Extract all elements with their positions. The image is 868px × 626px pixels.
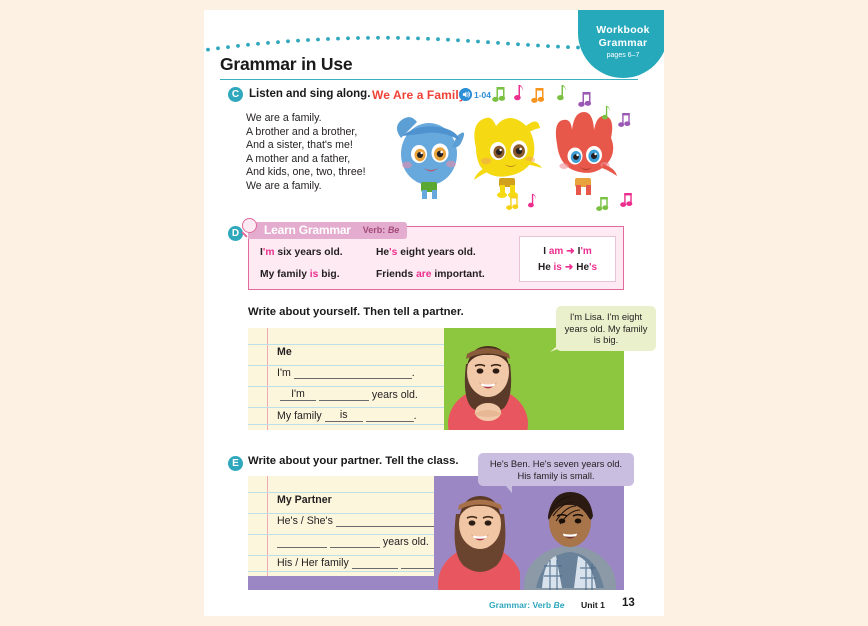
music-note-green-2 bbox=[555, 84, 566, 102]
magnifying-glass-icon bbox=[242, 218, 257, 233]
worksheet-e-line-1[interactable]: He's / She's . bbox=[277, 515, 441, 527]
music-note-pink-2 bbox=[526, 193, 536, 209]
exercise-letter-d: D bbox=[228, 226, 243, 241]
footer-unit: Unit 1 bbox=[581, 600, 605, 610]
learn-grammar-title: Learn Grammar bbox=[248, 222, 359, 239]
lyric-line: A brother and a brother, bbox=[246, 126, 366, 140]
music-note-green-3 bbox=[600, 105, 610, 121]
music-note-yellow-1 bbox=[506, 195, 521, 212]
worksheet-line-2[interactable]: I'm years old. bbox=[280, 388, 418, 401]
music-note-green-4 bbox=[596, 196, 611, 213]
badge-line-1: Workbook bbox=[596, 24, 650, 37]
music-note-pink-1 bbox=[512, 84, 523, 102]
grammar-example-2: My family is big. bbox=[260, 269, 340, 280]
textbook-page: Workbook Grammar pages 6–7 Grammar in Us… bbox=[204, 10, 664, 616]
blue-monster bbox=[390, 108, 468, 200]
footer-grammar-label: Grammar: Verb Be bbox=[489, 600, 564, 610]
worksheet-line-1[interactable]: I'm . bbox=[277, 367, 415, 379]
photo-girl-lisa bbox=[444, 328, 532, 430]
section-d-instruction: Write about yourself. Then tell a partne… bbox=[248, 306, 464, 318]
badge-line-2: Grammar bbox=[599, 37, 648, 50]
grammar-example-1: I'm six years old. bbox=[260, 247, 343, 258]
exercise-letter-c: C bbox=[228, 87, 243, 102]
speech-bubble-tail-lisa bbox=[548, 340, 564, 356]
grammar-example-4: Friends are important. bbox=[376, 269, 485, 280]
learn-grammar-verb-label: Verb: Be bbox=[359, 222, 408, 239]
paper-margin-line bbox=[267, 476, 268, 576]
music-note-orange-1 bbox=[531, 87, 547, 105]
section-e-activity-panel: My Partner He's / She's . years old. His… bbox=[248, 476, 624, 590]
worksheet-title-partner: My Partner bbox=[277, 494, 332, 506]
footer-page-number: 13 bbox=[622, 597, 635, 609]
worksheet-line-3[interactable]: My family is . bbox=[277, 409, 417, 422]
song-title: We Are a Family bbox=[372, 88, 466, 102]
section-c-instruction: Listen and sing along. bbox=[249, 88, 370, 100]
song-lyrics: We are a family. A brother and a brother… bbox=[246, 112, 366, 194]
worksheet-paper-me[interactable]: Me I'm . I'm years old. My family is . bbox=[248, 328, 456, 430]
yellow-monster bbox=[468, 106, 546, 200]
contraction-box: I am➜I'm He is➜He's bbox=[519, 236, 616, 282]
music-note-purple-2 bbox=[618, 112, 633, 129]
worksheet-title-me: Me bbox=[277, 346, 292, 358]
section-e-instruction: Write about your partner. Tell the class… bbox=[248, 455, 459, 467]
lyric-line: And a sister, that's me! bbox=[246, 139, 366, 153]
worksheet-paper-partner[interactable]: My Partner He's / She's . years old. His… bbox=[248, 476, 456, 576]
speaker-icon[interactable] bbox=[459, 88, 472, 101]
contraction-row-2: He is➜He's bbox=[538, 262, 597, 273]
worksheet-e-line-2[interactable]: years old. bbox=[277, 536, 429, 548]
grammar-example-3: He's eight years old. bbox=[376, 247, 476, 258]
photo-boy-ben bbox=[520, 476, 624, 590]
lyric-line: We are a family. bbox=[246, 112, 366, 126]
lyric-line: A mother and a father, bbox=[246, 153, 366, 167]
lyric-line: And kids, one, two, three! bbox=[246, 166, 366, 180]
learn-grammar-header: Learn Grammar Verb: Be bbox=[248, 222, 407, 239]
worksheet-e-line-3[interactable]: His / Her family . bbox=[277, 557, 450, 569]
speech-bubble-tail-ben bbox=[496, 479, 514, 497]
lyric-line: We are a family. bbox=[246, 180, 366, 194]
page-title: Grammar in Use bbox=[220, 54, 638, 80]
exercise-letter-e: E bbox=[228, 456, 243, 471]
speech-bubble-lisa: I'm Lisa. I'm eight years old. My family… bbox=[556, 306, 656, 351]
contraction-row-1: I am➜I'm bbox=[543, 246, 591, 257]
music-note-pink-3 bbox=[620, 192, 635, 209]
audio-track-number: 1-04 bbox=[474, 90, 491, 100]
music-note-green-1 bbox=[492, 86, 508, 104]
